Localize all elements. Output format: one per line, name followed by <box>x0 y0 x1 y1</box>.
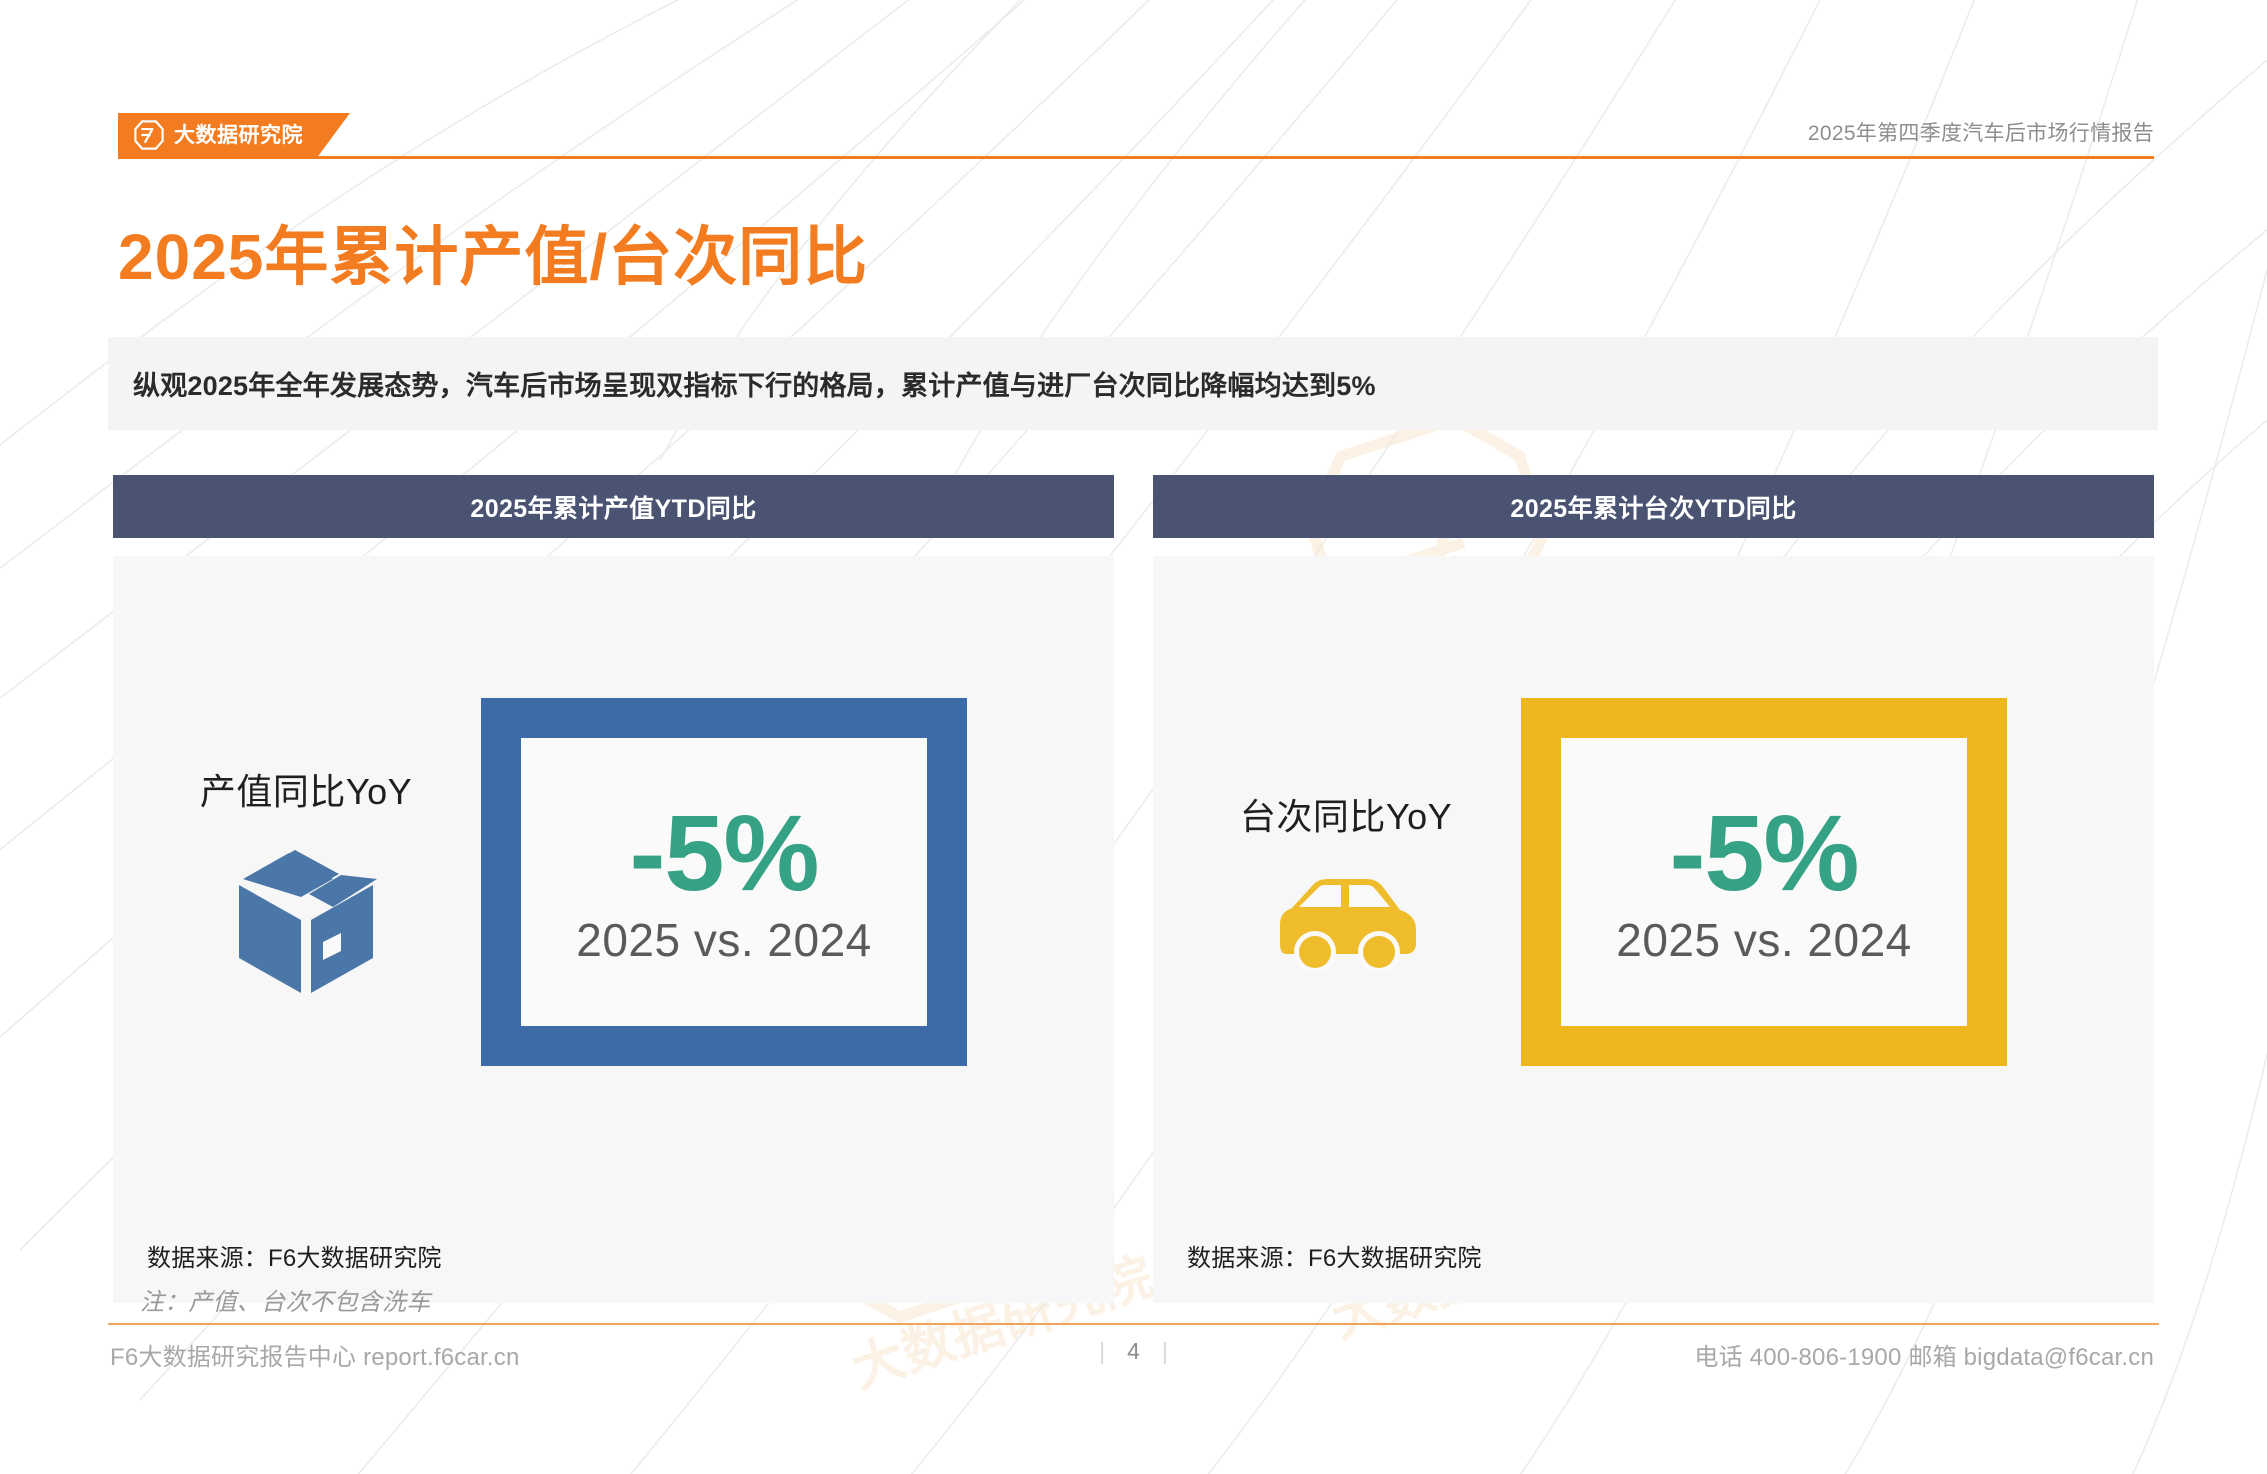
panel-header-vehicle-count: 2025年累计台次YTD同比 <box>1153 475 2154 538</box>
value-inner-vehicle-count: -5% 2025 vs. 2024 <box>1561 738 1967 1026</box>
panel-header-label: 2025年累计产值YTD同比 <box>470 489 756 525</box>
report-title-header: 2025年第四季度汽车后市场行情报告 <box>1808 117 2154 147</box>
yoy-value-output-value: -5% <box>629 796 818 909</box>
page-title: 2025年累计产值/台次同比 <box>118 206 868 298</box>
page-separator-right: | <box>1162 1338 1168 1365</box>
metric-identity-output-value: 产值同比YoY <box>171 763 441 1001</box>
subtitle-band: 纵观2025年全年发展态势，汽车后市场呈现双指标下行的格局，累计产值与进厂台次同… <box>108 337 2158 430</box>
car-icon <box>1266 866 1426 976</box>
footer-contact-info: 电话 400-806-1900 邮箱 bigdata@f6car.cn <box>1694 1337 2154 1372</box>
footnote-text: 注：产值、台次不包含洗车 <box>140 1282 430 1317</box>
value-frame-vehicle-count: -5% 2025 vs. 2024 <box>1521 698 2007 1066</box>
package-box-icon <box>231 841 381 1001</box>
page-footer: F6大数据研究报告中心 report.f6car.cn | 4 | 电话 400… <box>0 1325 2267 1385</box>
panel-vehicle-count: 2025年累计台次YTD同比 台次同比YoY <box>1153 475 2154 1303</box>
data-source-vehicle-count: 数据来源：F6大数据研究院 <box>1153 1207 2154 1303</box>
panel-body-output-value: 产值同比YoY <box>113 556 1114 1303</box>
panel-body-vehicle-count: 台次同比YoY -5% <box>1153 556 2154 1303</box>
value-frame-output-value: -5% 2025 vs. 2024 <box>481 698 967 1066</box>
slide-page: 大数据研究院 大数据研究院 大数据研究院 大数据研究院 <box>0 0 2267 1474</box>
page-separator-left: | <box>1099 1338 1105 1365</box>
comparison-label-vehicle-count: 2025 vs. 2024 <box>1616 913 1912 967</box>
brand-logo-text: 大数据研究院 <box>174 125 303 146</box>
metric-label-vehicle-count: 台次同比YoY <box>1240 788 1452 840</box>
header-divider-rule <box>118 156 2154 159</box>
subtitle-text: 纵观2025年全年发展态势，汽车后市场呈现双指标下行的格局，累计产值与进厂台次同… <box>108 364 1376 403</box>
page-header: 大数据研究院 2025年第四季度汽车后市场行情报告 <box>0 0 2267 160</box>
metric-panels: 2025年累计产值YTD同比 产值同比YoY <box>113 475 2154 1303</box>
brand-logo-badge: 大数据研究院 <box>118 113 350 157</box>
value-inner-output-value: -5% 2025 vs. 2024 <box>521 738 927 1026</box>
f6-hexagon-logo-icon <box>132 118 166 152</box>
panel-header-output-value: 2025年累计产值YTD同比 <box>113 475 1114 538</box>
panel-output-value: 2025年累计产值YTD同比 产值同比YoY <box>113 475 1114 1303</box>
comparison-label-output-value: 2025 vs. 2024 <box>576 913 872 967</box>
yoy-value-vehicle-count: -5% <box>1669 796 1858 909</box>
metric-label-output-value: 产值同比YoY <box>200 763 412 815</box>
panel-main-vehicle-count: 台次同比YoY -5% <box>1153 556 2154 1207</box>
metric-identity-vehicle-count: 台次同比YoY <box>1211 788 1481 976</box>
panel-header-label: 2025年累计台次YTD同比 <box>1510 489 1796 525</box>
panel-main-output-value: 产值同比YoY <box>113 556 1114 1207</box>
page-number: 4 <box>1127 1338 1140 1365</box>
